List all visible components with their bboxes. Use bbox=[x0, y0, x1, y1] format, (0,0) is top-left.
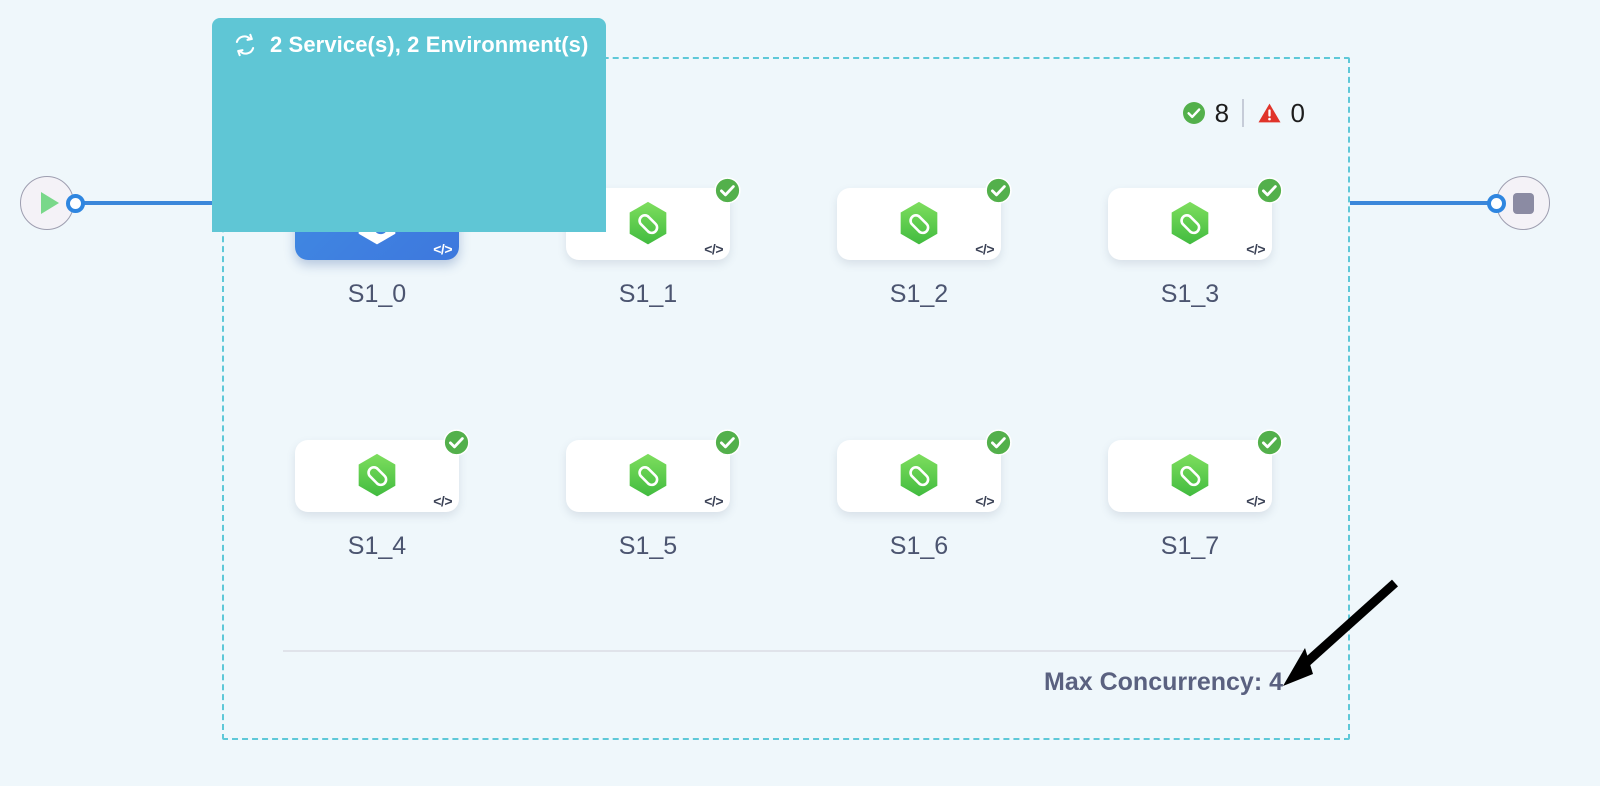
check-circle-icon bbox=[714, 429, 741, 456]
service-node[interactable]: </> S1_7 bbox=[1108, 440, 1272, 561]
node-label: S1_6 bbox=[837, 532, 1001, 561]
status-divider bbox=[1242, 99, 1244, 127]
check-circle-icon bbox=[985, 177, 1012, 204]
check-circle-icon bbox=[1256, 429, 1283, 456]
warning-count: 0 bbox=[1291, 98, 1305, 129]
node-card[interactable]: </> bbox=[837, 188, 1001, 260]
group-header-tab[interactable]: 2 Service(s), 2 Environment(s) bbox=[212, 18, 606, 232]
code-icon: </> bbox=[975, 241, 994, 257]
code-icon: </> bbox=[1246, 493, 1265, 509]
check-circle-icon bbox=[443, 429, 470, 456]
group-tab-label: 2 Service(s), 2 Environment(s) bbox=[270, 32, 588, 58]
code-icon: </> bbox=[975, 493, 994, 509]
check-circle-icon bbox=[714, 177, 741, 204]
node-label: S1_4 bbox=[295, 532, 459, 561]
end-connector-handle[interactable] bbox=[1487, 194, 1506, 213]
node-card[interactable]: </> bbox=[566, 440, 730, 512]
service-hex-icon bbox=[1165, 451, 1215, 501]
node-card[interactable]: </> bbox=[1108, 188, 1272, 260]
code-icon: </> bbox=[433, 241, 452, 257]
service-node[interactable]: </> S1_5 bbox=[566, 440, 730, 561]
service-hex-icon bbox=[1165, 199, 1215, 249]
edge-group-to-end bbox=[1347, 201, 1495, 205]
footer-divider bbox=[283, 650, 1305, 652]
service-hex-icon bbox=[894, 451, 944, 501]
service-node[interactable]: </> S1_4 bbox=[295, 440, 459, 561]
code-icon: </> bbox=[704, 241, 723, 257]
node-label: S1_2 bbox=[837, 280, 1001, 309]
node-label: S1_5 bbox=[566, 532, 730, 561]
node-card[interactable]: </> bbox=[1108, 440, 1272, 512]
service-node[interactable]: </> S1_3 bbox=[1108, 188, 1272, 309]
max-concurrency-label: Max Concurrency: 4 bbox=[283, 668, 1305, 697]
success-status-chip: 8 bbox=[1182, 98, 1229, 129]
status-summary: 8 0 bbox=[1182, 98, 1305, 129]
node-label: S1_3 bbox=[1108, 280, 1272, 309]
edge-start-to-group bbox=[80, 201, 222, 205]
flow-canvas: 2 Service(s), 2 Environment(s) S1 8 bbox=[0, 0, 1600, 786]
service-hex-icon bbox=[894, 199, 944, 249]
stop-icon bbox=[1513, 193, 1534, 214]
loop-icon bbox=[232, 32, 258, 58]
check-circle-icon bbox=[1256, 177, 1283, 204]
node-card[interactable]: </> bbox=[295, 440, 459, 512]
warning-status-chip: 0 bbox=[1257, 98, 1305, 129]
service-node[interactable]: </> S1_6 bbox=[837, 440, 1001, 561]
service-node[interactable]: </> S1_2 bbox=[837, 188, 1001, 309]
node-label: S1_1 bbox=[566, 280, 730, 309]
check-circle-icon bbox=[1182, 101, 1206, 125]
start-connector-handle[interactable] bbox=[66, 194, 85, 213]
node-card[interactable]: </> bbox=[837, 440, 1001, 512]
node-label: S1_7 bbox=[1108, 532, 1272, 561]
code-icon: </> bbox=[433, 493, 452, 509]
service-hex-icon bbox=[623, 451, 673, 501]
play-icon bbox=[41, 192, 59, 214]
success-count: 8 bbox=[1215, 98, 1229, 129]
code-icon: </> bbox=[704, 493, 723, 509]
service-hex-icon bbox=[352, 451, 402, 501]
warning-triangle-icon bbox=[1257, 101, 1282, 125]
node-label: S1_0 bbox=[295, 280, 459, 309]
service-hex-icon bbox=[623, 199, 673, 249]
check-circle-icon bbox=[985, 429, 1012, 456]
code-icon: </> bbox=[1246, 241, 1265, 257]
